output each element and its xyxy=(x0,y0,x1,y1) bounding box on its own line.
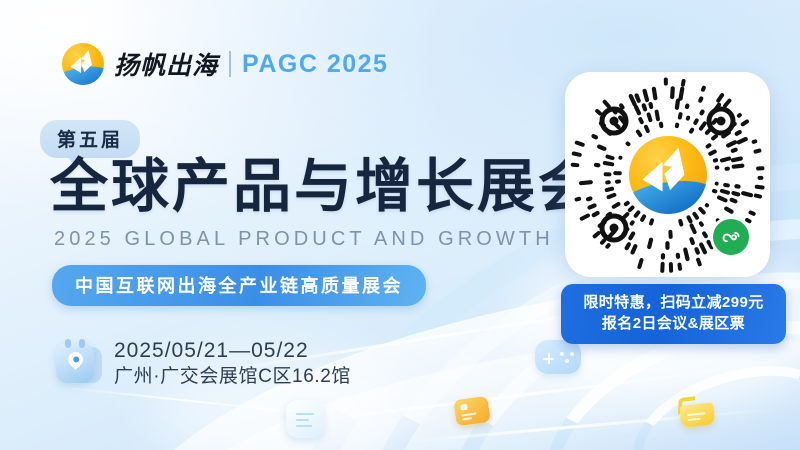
shopping-cart-icon xyxy=(676,394,719,432)
event-date: 2025/05/21—05/22 xyxy=(114,338,351,365)
document-icon xyxy=(286,400,324,438)
brand-divider xyxy=(229,51,231,77)
qr-code-card[interactable] xyxy=(565,72,770,277)
sailboat-sun-logo-icon xyxy=(62,43,104,85)
brand-lockup: 扬帆出海 PAGC 2025 xyxy=(62,42,388,86)
event-meta: 2025/05/21—05/22 广州·广交会展馆C区16.2馆 xyxy=(56,338,351,390)
page-title: 全球产品与增长展会 xyxy=(50,158,599,216)
card-icon xyxy=(453,396,490,426)
tagline-pill: 中国互联网出海全产业链高质量展会 xyxy=(52,265,426,306)
brand-name: 扬帆出海 xyxy=(114,46,218,82)
event-code: PAGC 2025 xyxy=(242,50,388,79)
qr-center-logo-icon xyxy=(629,136,707,214)
event-venue: 广州·广交会展馆C区16.2馆 xyxy=(114,365,351,390)
promo-banner-text: 限时特惠，扫码立减299元 报名2日会议&展区票 xyxy=(561,284,786,344)
promo-banner: 扬帆出海 PAGC 2025 第五届 全球产品与增长展会 2025 GLOBAL… xyxy=(0,0,800,450)
wechat-miniprogram-icon xyxy=(713,219,749,255)
promo-line-2: 报名2日会议&展区票 xyxy=(567,313,780,334)
edition-badge: 第五届 xyxy=(40,120,140,158)
promo-line-1: 限时特惠，扫码立减299元 xyxy=(567,292,780,313)
game-controller-icon xyxy=(535,340,581,374)
location-pin-icon xyxy=(56,339,102,389)
